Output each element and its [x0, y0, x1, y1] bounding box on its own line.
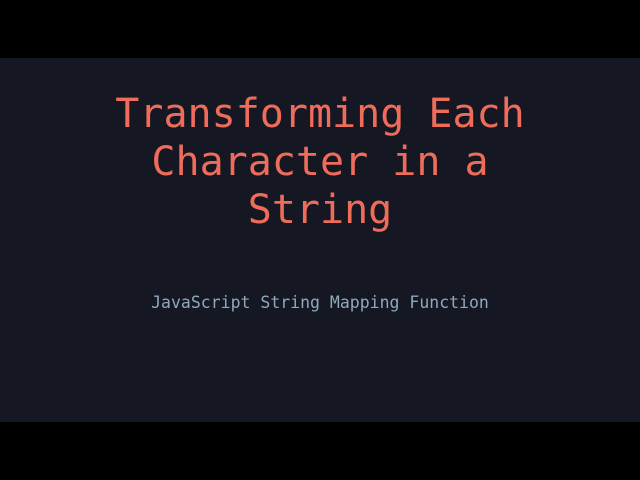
slide-title: Transforming Each Character in a String	[0, 90, 640, 234]
letterbox-bar-top	[0, 0, 640, 58]
slide-subtitle: JavaScript String Mapping Function	[0, 292, 640, 314]
letterbox-bar-bottom	[0, 422, 640, 480]
title-slide: Transforming Each Character in a String …	[0, 58, 640, 422]
video-frame: Transforming Each Character in a String …	[0, 0, 640, 480]
slide-content: Transforming Each Character in a String …	[0, 58, 640, 422]
